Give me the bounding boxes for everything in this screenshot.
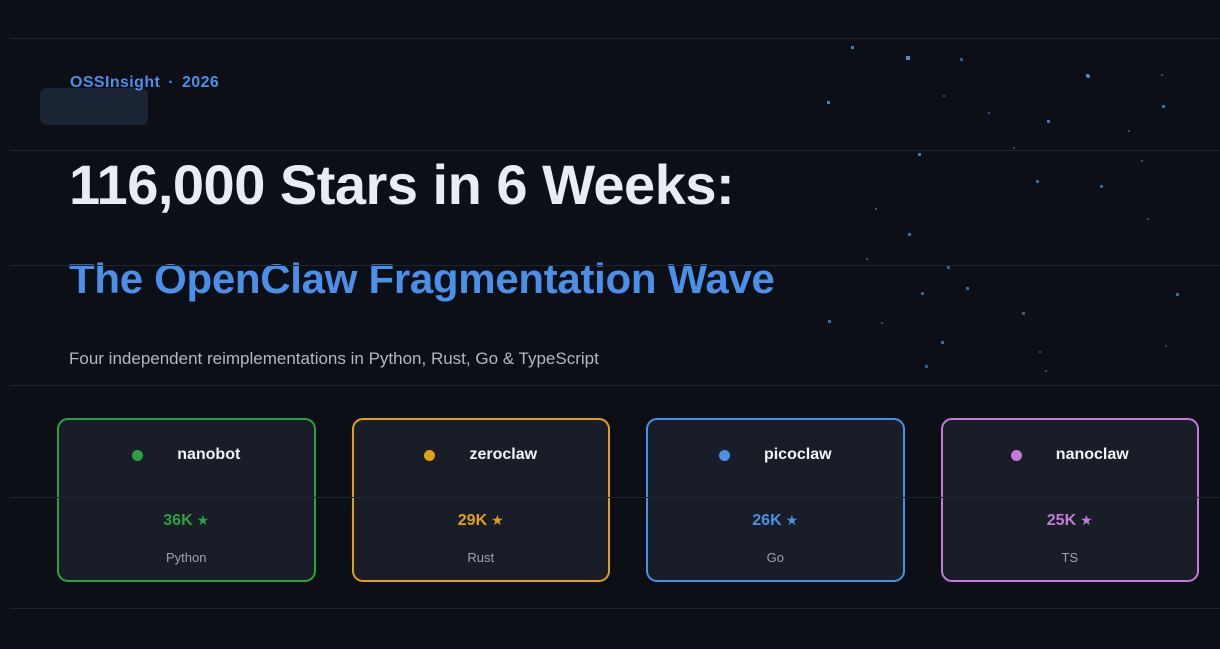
horizontal-divider: [10, 385, 1220, 386]
star-icon: ★: [1080, 512, 1093, 528]
breadcrumb-separator: ·: [168, 74, 174, 91]
star-count: 29K★: [354, 512, 609, 530]
project-card-header: nanoclaw: [943, 446, 1198, 464]
horizontal-divider: [10, 38, 1220, 39]
star-count-value: 36K: [163, 512, 192, 529]
brand-badge-block: [40, 88, 148, 125]
project-name: nanobot: [177, 446, 240, 464]
horizontal-divider: [10, 608, 1220, 609]
project-card-nanobot[interactable]: nanobot36K★Python: [57, 418, 316, 582]
project-card-picoclaw[interactable]: picoclaw26K★Go: [646, 418, 905, 582]
year-label: 2026: [182, 74, 219, 91]
horizontal-divider: [10, 265, 1220, 266]
project-language: Go: [648, 550, 903, 565]
project-card-nanoclaw[interactable]: nanoclaw25K★TS: [941, 418, 1200, 582]
horizontal-divider: [10, 150, 1220, 151]
project-card-header: zeroclaw: [354, 446, 609, 464]
star-count: 25K★: [943, 512, 1198, 530]
project-language: Rust: [354, 550, 609, 565]
status-dot-icon: [424, 450, 435, 461]
star-icon: ★: [786, 512, 799, 528]
status-dot-icon: [132, 450, 143, 461]
project-name: nanoclaw: [1056, 446, 1129, 464]
project-card-list: nanobot36K★Pythonzeroclaw29K★Rustpicocla…: [57, 418, 1199, 582]
horizontal-divider: [10, 497, 1220, 498]
star-count-value: 25K: [1047, 512, 1076, 529]
brand-label: OSSInsight: [70, 74, 160, 91]
status-dot-icon: [719, 450, 730, 461]
project-card-zeroclaw[interactable]: zeroclaw29K★Rust: [352, 418, 611, 582]
project-language: Python: [59, 550, 314, 565]
star-count: 26K★: [648, 512, 903, 530]
project-name: picoclaw: [764, 446, 832, 464]
project-language: TS: [943, 550, 1198, 565]
page-tagline: Four independent reimplementations in Py…: [69, 349, 599, 369]
project-name: zeroclaw: [469, 446, 537, 464]
status-dot-icon: [1011, 450, 1022, 461]
page-title: 116,000 Stars in 6 Weeks:: [69, 152, 734, 217]
star-count-value: 26K: [752, 512, 781, 529]
star-count-value: 29K: [458, 512, 487, 529]
page-subtitle: The OpenClaw Fragmentation Wave: [69, 255, 775, 303]
project-card-header: picoclaw: [648, 446, 903, 464]
star-icon: ★: [491, 512, 504, 528]
star-count: 36K★: [59, 512, 314, 530]
breadcrumb: OSSInsight·2026: [70, 74, 219, 92]
star-icon: ★: [197, 512, 210, 528]
page-root: OSSInsight·2026 116,000 Stars in 6 Weeks…: [0, 0, 1220, 649]
project-card-header: nanobot: [59, 446, 314, 464]
